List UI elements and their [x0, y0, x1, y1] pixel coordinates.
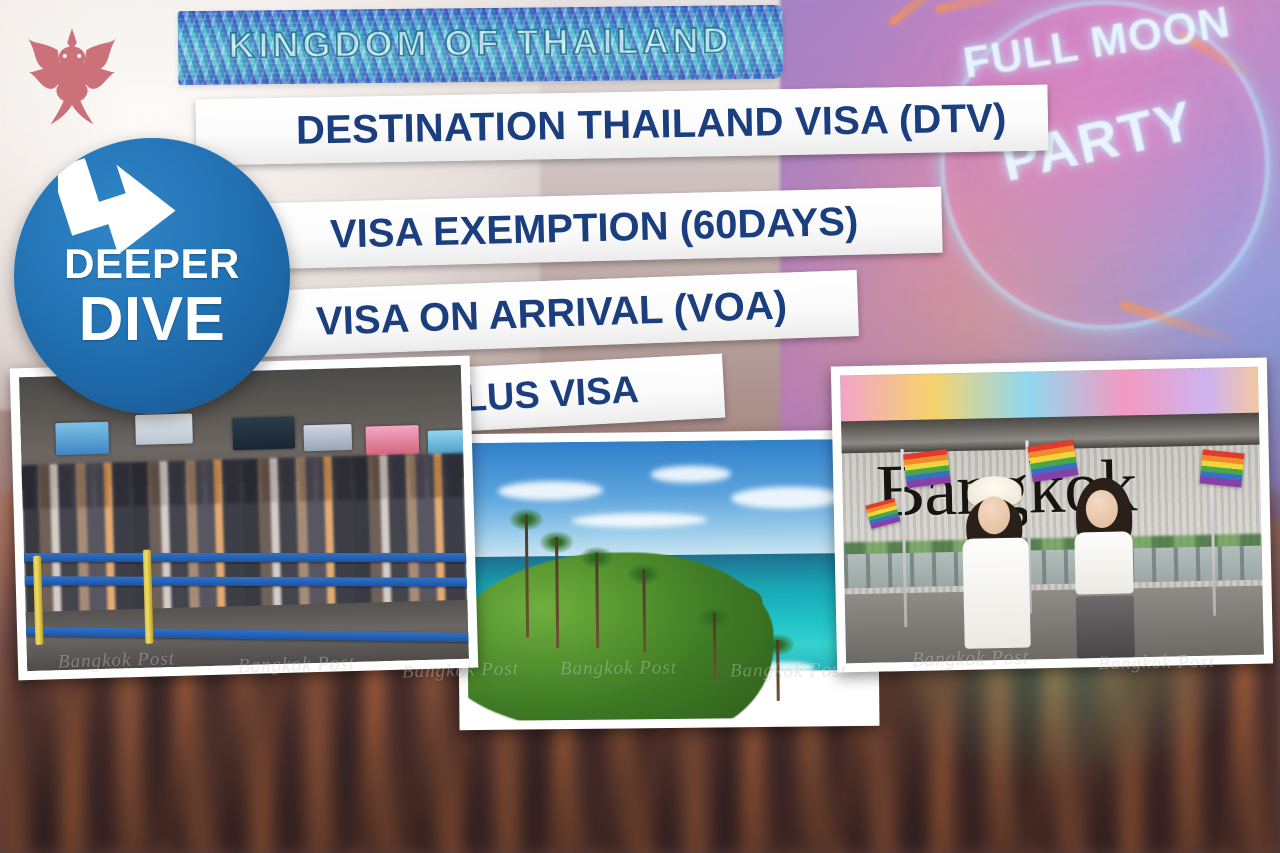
deeper-dive-badge[interactable]: DEEPER DIVE — [14, 138, 290, 414]
airport-display-screen — [135, 414, 193, 445]
face — [977, 496, 1010, 535]
airport-display-screen — [303, 424, 352, 452]
thailand-garuda-emblem-icon — [12, 14, 132, 134]
airport-display-screen — [365, 425, 419, 456]
photo-card-bangkok-sign: Bangkok — [831, 357, 1273, 672]
badge-line-2: DIVE — [14, 284, 290, 355]
queue-barrier-rail — [19, 576, 469, 587]
airport-display-screen — [56, 422, 110, 456]
tourist-figure — [1060, 472, 1164, 653]
infographic-canvas: FULL MOON PARTY KINGDOM OF THAILAND — [0, 0, 1280, 853]
queue-barrier-rail — [19, 553, 469, 562]
passport-header-strip: KINGDOM OF THAILAND — [178, 5, 784, 85]
crop-top — [1075, 531, 1134, 594]
photo-card-tropical-cape — [456, 430, 879, 730]
visa-option-label-3: VISA ON ARRIVAL (VOA) — [315, 285, 787, 341]
palm-tree — [701, 613, 730, 680]
tourist-figure — [951, 475, 1055, 656]
badge-line-1: DEEPER — [14, 240, 290, 288]
visa-option-label-1: DESTINATION THAILAND VISA (DTV) — [296, 98, 1007, 150]
palm-tree — [628, 569, 661, 653]
pride-flag-icon — [1200, 449, 1245, 487]
photo-card-airport-queue — [10, 356, 479, 681]
dress — [962, 537, 1030, 648]
palm-tree — [539, 536, 576, 648]
photo-image-bangkok-sign: Bangkok — [840, 367, 1264, 664]
pride-flag-icon — [903, 449, 951, 488]
photo-image-airport-queue — [19, 365, 469, 671]
palm-tree — [579, 553, 614, 648]
photo-image-tropical-cape — [466, 439, 871, 721]
palm-tree — [765, 640, 792, 701]
kingdom-of-thailand-label: KINGDOM OF THAILAND — [178, 19, 783, 67]
airport-display-screen — [232, 417, 295, 451]
jeans — [1076, 595, 1135, 658]
visa-option-label-2: VISA EXEMPTION (60DAYS) — [330, 202, 859, 255]
